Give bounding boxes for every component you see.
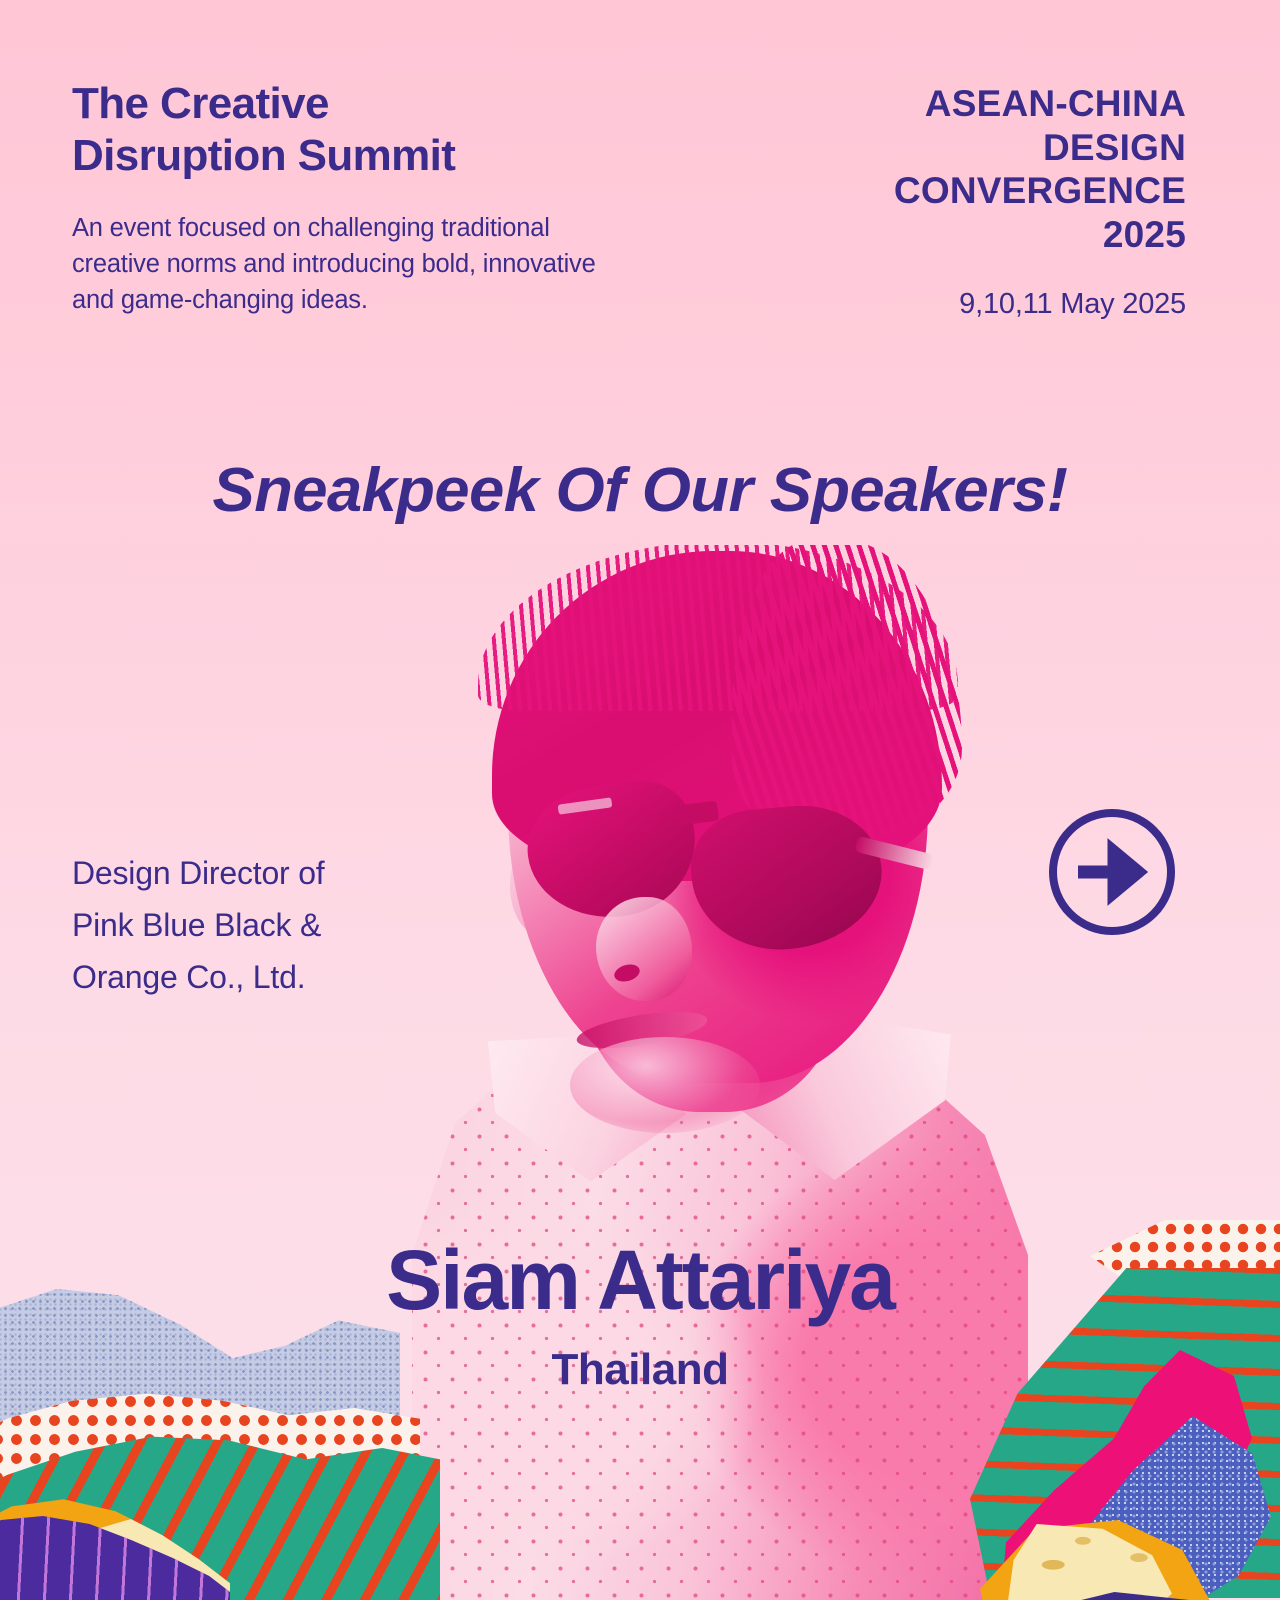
event-name-line-2: DESIGN: [1043, 127, 1186, 168]
arrow-right-circle-icon[interactable]: [1048, 808, 1176, 936]
event-name-line-3: CONVERGENCE: [894, 170, 1186, 211]
page-title-line-2: Disruption Summit: [72, 131, 455, 180]
header-left-block: The Creative Disruption Summit An event …: [72, 78, 632, 318]
event-description: An event focused on challenging traditio…: [72, 182, 632, 319]
speaker-role-line-2: Pink Blue Black &: [72, 907, 321, 943]
event-name-line-4: 2025: [1103, 214, 1186, 255]
speaker-portrait: [400, 545, 1040, 1600]
event-name: ASEAN-CHINA DESIGN CONVERGENCE 2025: [746, 82, 1186, 257]
next-speaker-button[interactable]: [1048, 808, 1176, 936]
portrait-chin-highlight: [570, 1037, 760, 1133]
poster-canvas: The Creative Disruption Summit An event …: [0, 0, 1280, 1600]
speaker-role-line-3: Orange Co., Ltd.: [72, 959, 305, 995]
collage-bottom-left: [0, 1260, 460, 1600]
speaker-role-line-1: Design Director of: [72, 855, 325, 891]
portrait-nose: [596, 897, 692, 1001]
collage-bottom-right: [960, 1220, 1280, 1600]
sneakpeek-headline: Sneakpeek Of Our Speakers!: [0, 455, 1280, 526]
page-title-line-1: The Creative: [72, 79, 329, 128]
event-dates: 9,10,11 May 2025: [746, 257, 1186, 322]
event-name-line-1: ASEAN-CHINA: [925, 83, 1186, 124]
header-right-block: ASEAN-CHINA DESIGN CONVERGENCE 2025 9,10…: [746, 82, 1186, 321]
page-title: The Creative Disruption Summit: [72, 78, 632, 182]
speaker-role: Design Director of Pink Blue Black & Ora…: [72, 848, 472, 1003]
